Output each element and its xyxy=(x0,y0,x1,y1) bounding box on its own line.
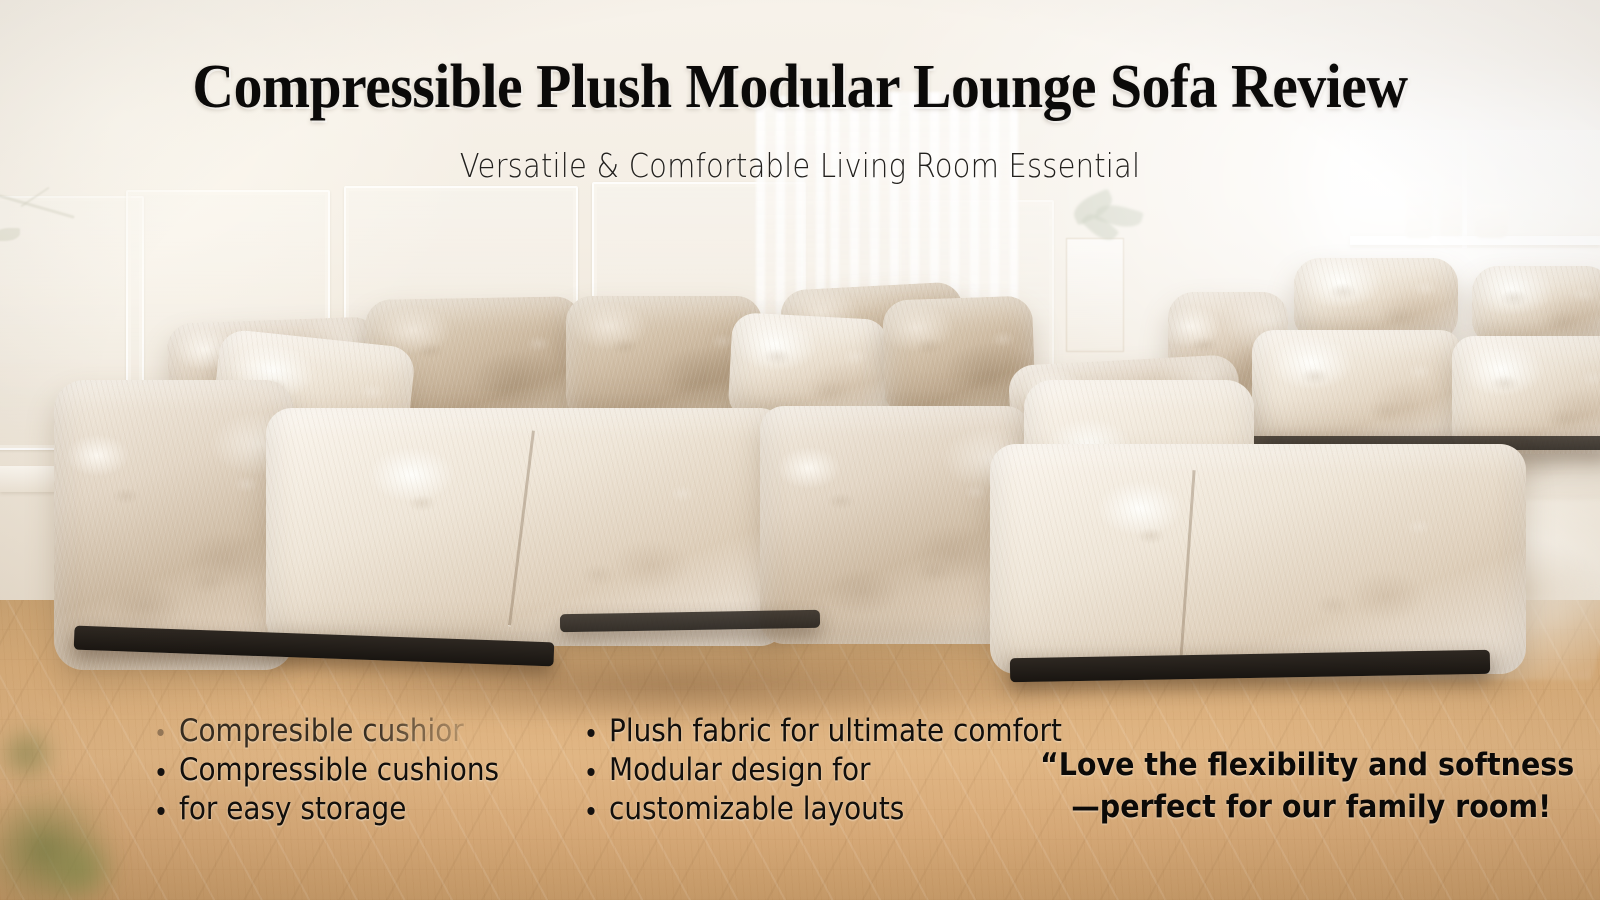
page-subtitle: Versatile & Comfortable Living Room Esse… xyxy=(96,146,1504,185)
testimonial-line-2: —perfect for our family room! xyxy=(1040,786,1518,828)
list-item: Compresible cushior xyxy=(152,712,499,751)
feature-list-left: Compresible cushior Compressible cushion… xyxy=(152,712,499,829)
right-sofa-seat-left xyxy=(1252,330,1462,446)
list-item: customizable layouts xyxy=(582,790,1062,829)
list-item: for easy storage xyxy=(152,790,499,829)
right-sofa-back-cushion-b xyxy=(1472,266,1600,346)
page-title: Compressible Plush Modular Lounge Sofa R… xyxy=(56,52,1544,123)
list-item: Plush fabric for ultimate comfort xyxy=(582,712,1062,751)
customer-testimonial: “Love the flexibility and softness —perf… xyxy=(1040,744,1518,828)
sofa-ottoman xyxy=(990,444,1526,674)
list-item: Modular design for xyxy=(582,751,1062,790)
list-item: Compressible cushions xyxy=(152,751,499,790)
testimonial-line-1: “Love the flexibility and softness xyxy=(1040,747,1574,783)
feature-list-middle: Plush fabric for ultimate comfort Modula… xyxy=(582,712,1062,829)
sofa-review-banner: Compressible Plush Modular Lounge Sofa R… xyxy=(0,0,1600,900)
sofa-seat-left-run xyxy=(266,408,786,646)
